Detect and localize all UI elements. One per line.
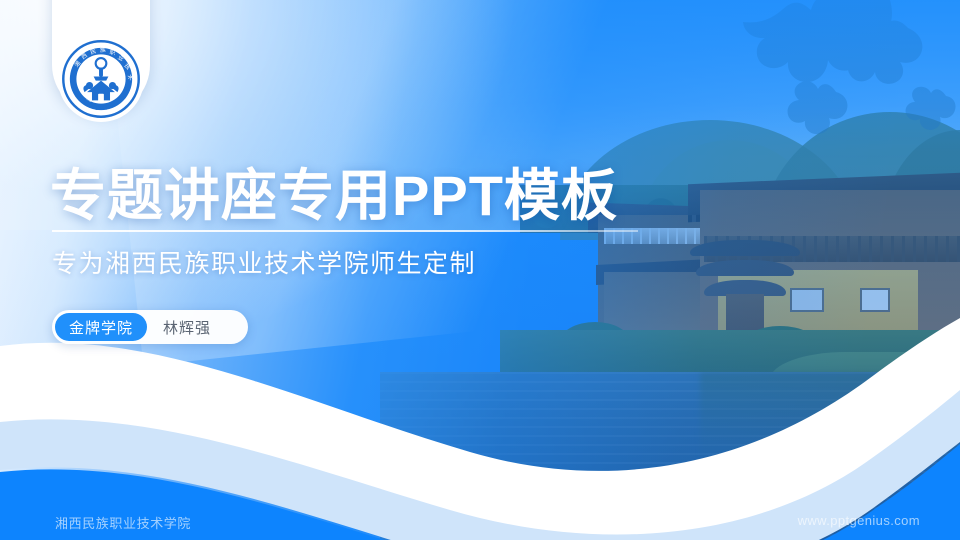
badge-tag: 金牌学院 (55, 313, 147, 341)
ppt-cover-slide: 湘 西 民 族 职 业 技 术 学 院 (0, 0, 960, 540)
presenter-badge: 金牌学院 林辉强 (52, 310, 248, 344)
footer-website[interactable]: www.pptgenius.com (798, 513, 920, 528)
title-divider (52, 230, 638, 232)
presenter-name: 林辉强 (163, 317, 211, 338)
emblem-icon: 湘 西 民 族 职 业 技 术 学 院 (60, 38, 142, 120)
college-logo: 湘 西 民 族 职 业 技 术 学 院 (58, 36, 144, 122)
emblem-year: 1984 (95, 106, 107, 112)
wave-decoration (0, 310, 960, 540)
page-subtitle: 专为湘西民族职业技术学院师生定制 (52, 244, 476, 280)
page-title: 专题讲座专用PPT模板 (50, 166, 618, 226)
footer-institution: 湘西民族职业技术学院 (55, 513, 191, 532)
